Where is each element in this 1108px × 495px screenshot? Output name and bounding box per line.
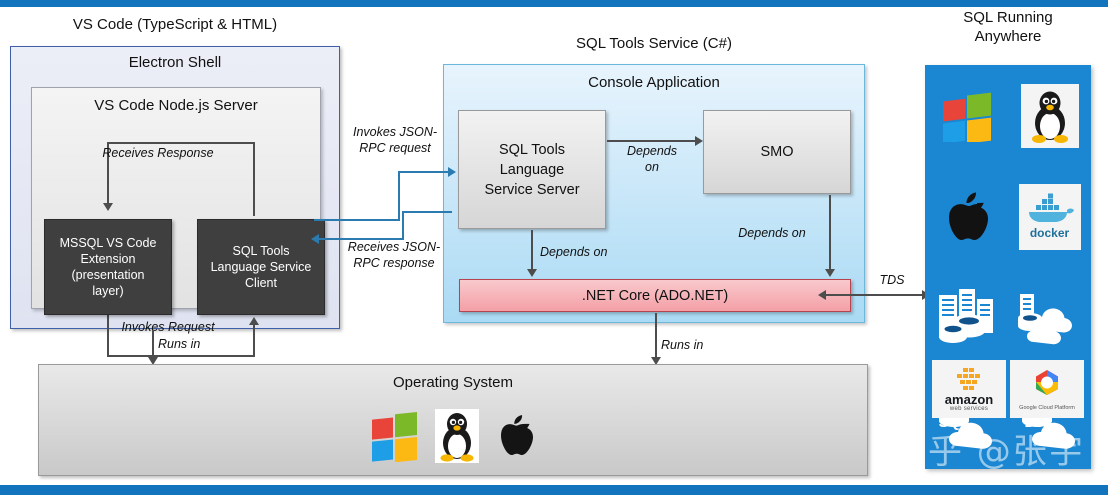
on-premises-server-icon: [931, 287, 1003, 349]
lss-to-netcore-arrowhead: [527, 269, 537, 277]
mssql-vscode-extension-box[interactable]: MSSQL VS Code Extension (presentation la…: [44, 219, 172, 315]
aws-label: amazon: [945, 393, 993, 406]
platform-tile-docker: docker: [1008, 166, 1091, 267]
smo-to-netcore-arrowhead: [825, 269, 835, 277]
bottom-accent-bar: [0, 485, 1108, 495]
vscode-node-server-label: VS Code Node.js Server: [32, 97, 320, 114]
platform-tile-aws: amazon web services: [932, 360, 1006, 418]
invokes-rpc-line-1: [314, 219, 400, 221]
receives-rpc-line-1: [404, 211, 452, 213]
top-accent-bar: [0, 0, 1108, 7]
platform-tile-on-premises: [925, 267, 1008, 368]
runs-in-middle-label: Runs in: [661, 337, 731, 353]
receives-response-line-top: [107, 142, 255, 144]
invokes-rpc-label: Invokes JSON- RPC request: [343, 124, 447, 156]
smo-to-netcore-line: [829, 195, 831, 270]
smo-box[interactable]: SMO: [703, 110, 851, 194]
platform-tile-apple: [925, 166, 1008, 267]
net-core-ado-net-box[interactable]: .NET Core (ADO.NET): [459, 279, 851, 312]
apple-logo-icon: [493, 410, 537, 467]
platform-tile-cloud-server: [1008, 267, 1091, 368]
lss-to-smo-line: [607, 140, 695, 142]
docker-label: docker: [1030, 226, 1069, 240]
runs-in-left-label: Runs in: [158, 336, 228, 352]
sql-tools-language-service-client-box[interactable]: SQL Tools Language Service Client: [197, 219, 325, 315]
receives-response-arrowhead: [103, 203, 113, 211]
docker-whale-icon: [1025, 193, 1075, 225]
amazon-web-services-icon: [945, 367, 993, 393]
electron-shell-container: Electron Shell VS Code Node.js Server Re…: [10, 46, 340, 329]
operating-system-container: Operating System: [38, 364, 868, 476]
windows-logo-icon: [939, 90, 995, 142]
console-application-label: Console Application: [444, 74, 864, 91]
operating-system-icon-row: [39, 409, 867, 468]
receives-response-label: Receives Response: [73, 145, 243, 161]
linux-tux-icon: [435, 409, 479, 468]
invokes-rpc-line-3: [398, 171, 449, 173]
depends-on-smo-label: Depends on: [608, 143, 696, 175]
receives-rpc-arrowhead: [311, 234, 319, 244]
operating-system-label: Operating System: [39, 374, 867, 391]
receives-response-line-right: [253, 142, 255, 216]
electron-shell-label: Electron Shell: [11, 54, 339, 71]
invokes-rpc-arrowhead: [448, 167, 456, 177]
lss-to-netcore-line: [531, 230, 533, 270]
lss-to-smo-arrowhead: [695, 136, 703, 146]
tds-arrowhead-left: [818, 290, 826, 300]
left-group-title: VS Code (TypeScript & HTML): [10, 15, 340, 34]
runs-in-left-line: [152, 330, 154, 358]
depends-on-netcore-right-label: Depends on: [718, 225, 826, 241]
gcp-label: Google Cloud Platform: [1019, 405, 1075, 411]
depends-on-netcore-left-label: Depends on: [540, 244, 650, 260]
invokes-request-line-bottom: [107, 355, 255, 357]
diagram-canvas: VS Code (TypeScript & HTML) SQL Tools Se…: [0, 0, 1108, 495]
sql-running-anywhere-container: docker: [925, 65, 1091, 469]
tds-label: TDS: [862, 272, 922, 288]
aws-sublabel: web services: [950, 406, 988, 412]
apple-logo-icon: [940, 186, 994, 248]
invokes-request-line-right: [253, 325, 255, 356]
runs-in-middle-line: [655, 313, 657, 359]
receives-rpc-label: Receives JSON- RPC response: [338, 239, 450, 271]
google-cloud-platform-icon: [1027, 368, 1067, 404]
receives-rpc-line-2: [402, 211, 404, 240]
platform-tile-gcp: Google Cloud Platform: [1010, 360, 1084, 418]
tds-line: [824, 294, 928, 296]
cloud-server-icon: [1012, 288, 1088, 348]
invokes-rpc-line-2: [398, 171, 400, 221]
linux-tux-icon: [1027, 88, 1073, 144]
right-group-title: SQL Running Anywhere: [925, 8, 1091, 46]
cloud-vendor-tile-row: amazon web services Google Cloud Platfor…: [932, 360, 1084, 418]
windows-logo-icon: [369, 410, 421, 467]
platform-tile-windows: [925, 65, 1008, 166]
sql-tools-language-service-server-box[interactable]: SQL Tools Language Service Server: [458, 110, 606, 229]
invokes-request-label: Invokes Request: [83, 319, 253, 335]
middle-group-title: SQL Tools Service (C#): [443, 34, 865, 53]
platform-tile-linux: [1008, 65, 1091, 166]
